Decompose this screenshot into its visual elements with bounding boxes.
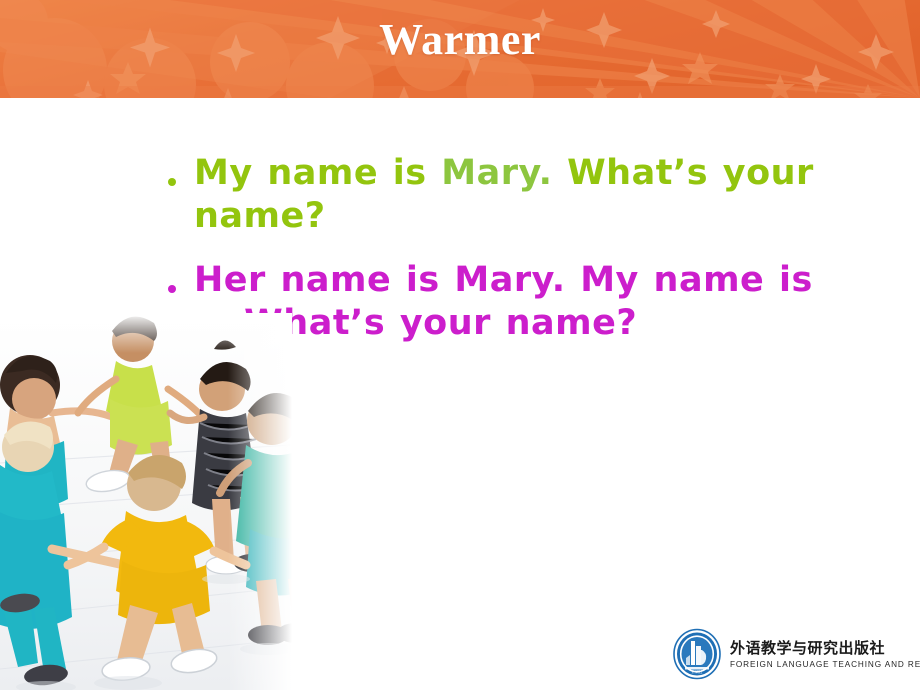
bullet-1-highlight: Mary. — [441, 153, 552, 193]
slide-header-banner: Warmer — [0, 0, 920, 98]
publisher-name-cn: 外语教学与研究出版社 — [730, 639, 920, 658]
svg-text:外研社: 外研社 — [692, 669, 703, 674]
bullet-text-1: My name is Mary. What’s your name? — [194, 152, 858, 237]
slide-canvas: Warmer My name is Mary. What’s your name… — [0, 0, 920, 690]
bullet-marker-icon — [168, 152, 194, 191]
children-circle-photo — [0, 313, 292, 690]
publisher-logo: 外研社 外语教学与研究出版社 FOREIGN LANGUAGE TEACHING… — [672, 626, 912, 682]
bullet-1-lead: My name is — [194, 153, 441, 193]
page-title: Warmer — [0, 0, 920, 98]
publisher-logo-text: 外语教学与研究出版社 FOREIGN LANGUAGE TEACHING AND… — [730, 639, 920, 670]
bullet-item-1: My name is Mary. What’s your name? — [168, 152, 858, 237]
bullet-marker-icon — [168, 259, 194, 298]
publisher-name-en: FOREIGN LANGUAGE TEACHING AND RESEARCH P… — [730, 660, 920, 669]
bullet-2-lead: Her name is Mary. My name is — [194, 260, 813, 300]
fltrp-circular-emblem-icon: 外研社 — [672, 628, 722, 680]
children-holding-hands-illustration — [0, 313, 292, 690]
bullet-text-2: Her name is Mary. My name is … What’s yo… — [194, 259, 858, 344]
